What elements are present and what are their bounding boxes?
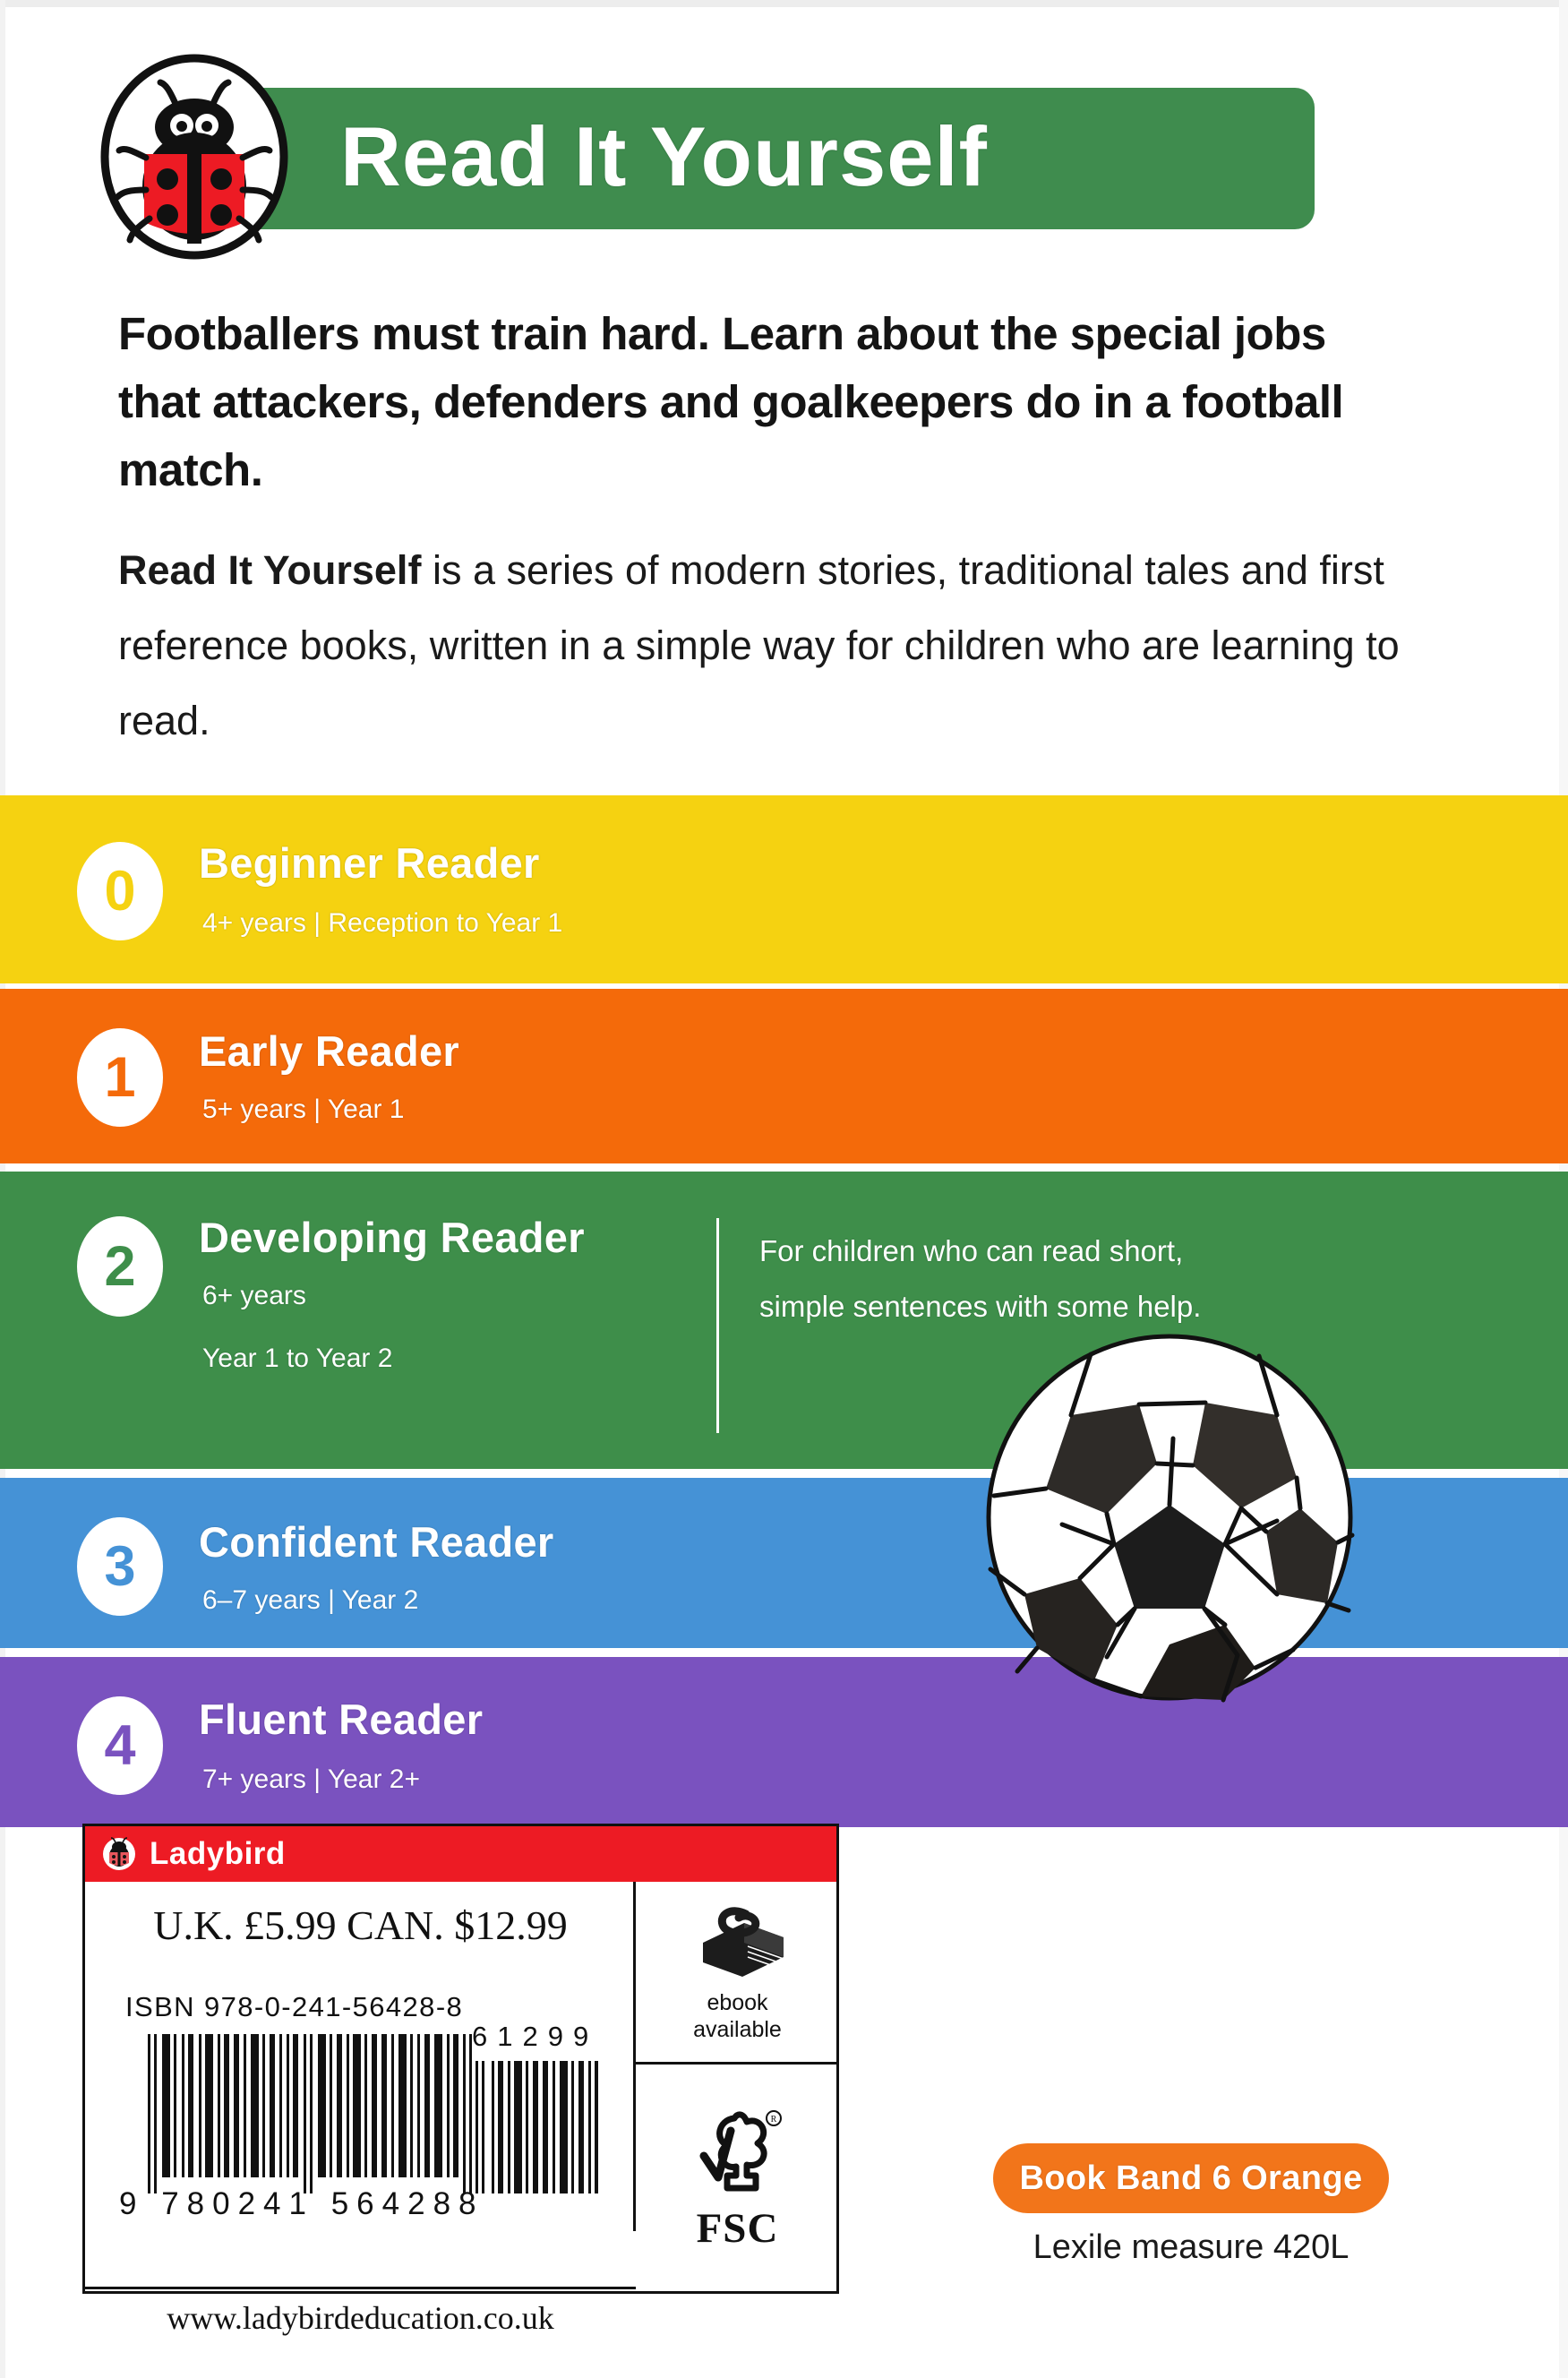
series-description: Read It Yourself is a series of modern s…	[118, 533, 1417, 759]
svg-text:R: R	[770, 2115, 776, 2125]
reading-level-number-1: 1	[77, 1028, 163, 1127]
reading-level-subtitle-2: 6+ years Year 1 to Year 2	[202, 1276, 392, 1378]
book-summary: Footballers must train hard. Learn about…	[118, 300, 1390, 504]
reading-level-number-0: 0	[77, 842, 163, 940]
reading-level-subtitle-1: 5+ years | Year 1	[202, 1090, 404, 1129]
scan-edge-top	[0, 0, 1568, 7]
band-divider	[716, 1218, 719, 1433]
isbn-label: ISBN 978-0-241-56428-8	[125, 1991, 463, 2023]
publisher-name: Ladybird	[150, 1836, 286, 1872]
reading-level-title-3: Confident Reader	[199, 1517, 554, 1567]
ladybird-icon	[94, 54, 296, 260]
ebook-icon	[685, 1902, 791, 1984]
reading-level-subtitle-3: 6–7 years | Year 2	[202, 1581, 418, 1620]
reading-level-title-4: Fluent Reader	[199, 1695, 483, 1744]
series-header: Read It Yourself	[0, 54, 1316, 229]
reading-level-description-2: For children who can read short, simple …	[759, 1223, 1261, 1335]
reading-level-title-0: Beginner Reader	[199, 838, 540, 888]
price-line: U.K. £5.99 CAN. $12.99	[85, 1902, 636, 1949]
reading-level-number-4: 4	[77, 1696, 163, 1795]
barcode-left-cell: U.K. £5.99 CAN. $12.99 ISBN 978-0-241-56…	[85, 1882, 636, 2231]
reading-level-subtitle-0: 4+ years | Reception to Year 1	[202, 904, 562, 943]
addon-digits: 61299	[472, 2021, 598, 2053]
reading-level-number-2: 2	[77, 1216, 163, 1317]
series-name-inline: Read It Yourself	[118, 547, 421, 593]
barcode-block: Ladybird U.K. £5.99 CAN. $12.99 ISBN 978…	[82, 1824, 839, 2294]
ebook-available-cell: ebook available	[636, 1882, 839, 2065]
fsc-caption: FSC	[697, 2204, 779, 2253]
reading-level-subtitle-2-line1: 6+ years	[202, 1276, 392, 1316]
reading-level-title-2: Developing Reader	[199, 1213, 585, 1262]
football-icon	[981, 1329, 1358, 1705]
ebook-caption: ebook available	[693, 1989, 782, 2043]
publisher-bar: Ladybird	[85, 1826, 836, 1882]
reading-level-subtitle-4: 7+ years | Year 2+	[202, 1760, 420, 1799]
ladybird-icon	[101, 1836, 137, 1872]
series-title: Read It Yourself	[340, 107, 1290, 206]
ebook-caption-line1: ebook	[693, 1989, 782, 2016]
publisher-website[interactable]: www.ladybirdeducation.co.uk	[85, 2287, 636, 2347]
fsc-tree-icon: R	[688, 2104, 788, 2202]
fsc-cell: R FSC	[636, 2065, 839, 2291]
ebook-caption-line2: available	[693, 2016, 782, 2043]
reading-level-band-0: 0 Beginner Reader 4+ years | Reception t…	[0, 795, 1568, 983]
lexile-measure: Lexile measure 420L	[993, 2228, 1389, 2267]
book-back-cover: Read It Yourself	[0, 0, 1568, 2378]
reading-level-title-1: Early Reader	[199, 1026, 459, 1076]
reading-level-band-1: 1 Early Reader 5+ years | Year 1	[0, 989, 1568, 1163]
ean5-addon-barcode	[472, 2061, 602, 2193]
reading-level-subtitle-2-line2: Year 1 to Year 2	[202, 1339, 392, 1378]
reading-level-number-3: 3	[77, 1517, 163, 1616]
book-band-badge: Book Band 6 Orange	[993, 2143, 1389, 2213]
